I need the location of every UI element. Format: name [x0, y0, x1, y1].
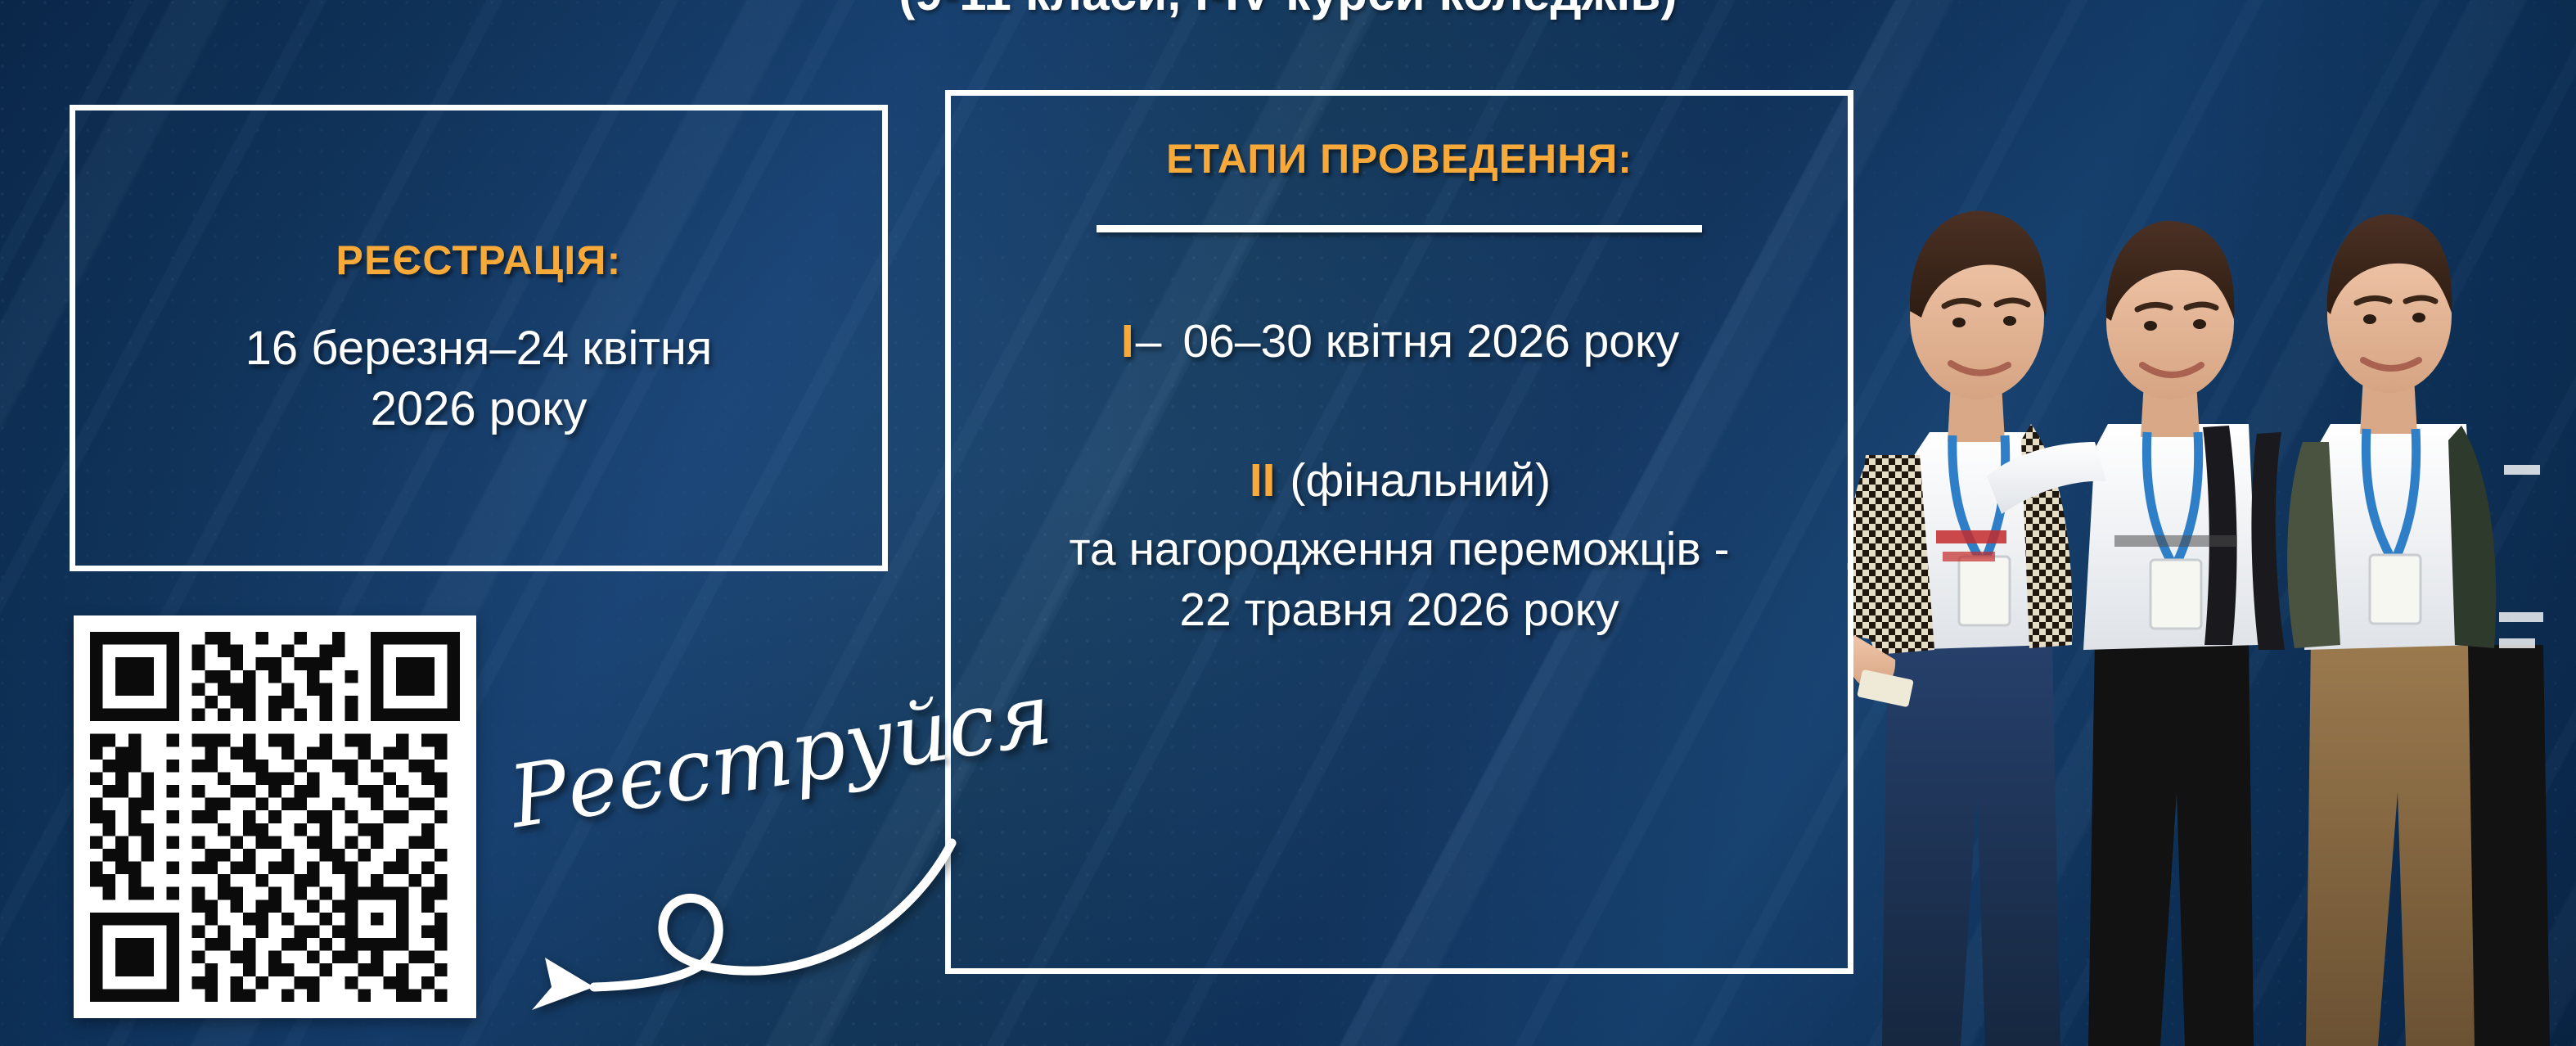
stage-one-numeral: I	[1119, 315, 1136, 367]
stage-two-line-2: та нагородження переможців -	[1069, 519, 1729, 579]
stage-one-dash: –	[1136, 315, 1162, 367]
stages-divider	[1097, 225, 1702, 232]
stage-two-label: (фінальний)	[1290, 454, 1551, 507]
curved-arrow-icon	[457, 835, 964, 1015]
qr-code-image	[90, 632, 460, 1002]
registration-dates-line-1: 16 березня–24 квітня	[245, 318, 713, 379]
stages-heading: ЕТАПИ ПРОВЕДЕННЯ:	[1166, 135, 1633, 183]
stage-two-numeral: II	[1248, 454, 1277, 507]
participants-photo	[1790, 72, 2576, 1046]
registration-dates-line-2: 2026 року	[245, 379, 713, 440]
registration-heading: РЕЄСТРАЦІЯ:	[336, 237, 622, 284]
stage-two-detail: та нагородження переможців - 22 травня 2…	[1069, 519, 1729, 640]
poster-root: (9-11 класи, I-IV курси коледжів) РЕЄСТР…	[0, 0, 2576, 1046]
registration-dates: 16 березня–24 квітня 2026 року	[245, 318, 713, 440]
stage-two-line-3: 22 травня 2026 року	[1069, 579, 1729, 640]
qr-code[interactable]	[74, 615, 476, 1018]
stages-box: ЕТАПИ ПРОВЕДЕННЯ: I–06–30 квітня 2026 ро…	[945, 90, 1853, 974]
stage-two-line: II (фінальний)	[1248, 450, 1551, 511]
stage-one-line: I–06–30 квітня 2026 року	[1119, 311, 1679, 372]
participants-photo-image	[1790, 72, 2576, 1046]
registration-box: РЕЄСТРАЦІЯ: 16 березня–24 квітня 2026 ро…	[70, 105, 888, 571]
arrow-head-icon	[532, 958, 594, 1010]
stage-one-text: 06–30 квітня 2026 року	[1182, 315, 1679, 367]
